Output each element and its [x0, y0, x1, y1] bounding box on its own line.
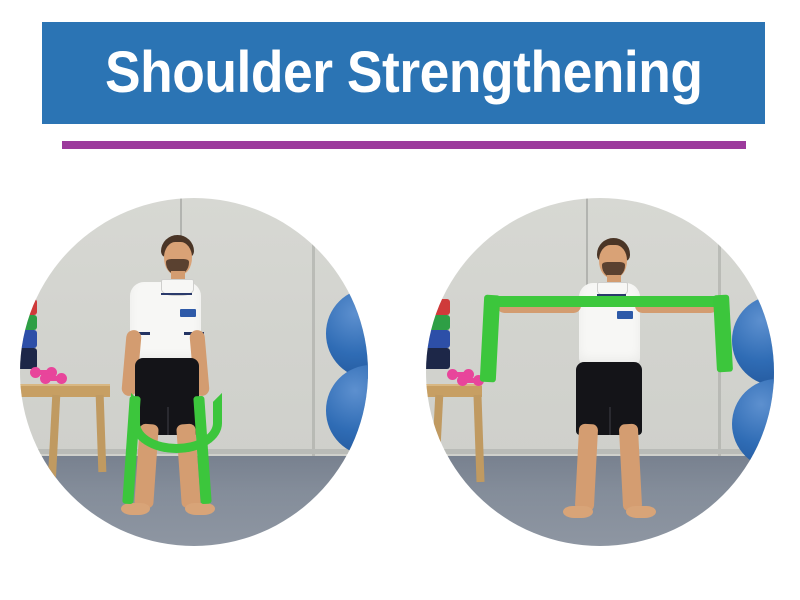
foot-left: [121, 503, 151, 516]
gym-scene-end: [426, 198, 774, 546]
band-horizontal: [492, 296, 722, 306]
foot-right: [626, 506, 656, 519]
band-tail-left: [479, 295, 499, 383]
shirt-logo: [617, 311, 633, 319]
title-banner: Shoulder Strengthening: [42, 22, 765, 124]
collar-stripe: [161, 293, 192, 295]
person-start-position: [20, 198, 368, 546]
leg-left: [575, 424, 598, 512]
foot-right: [185, 503, 215, 516]
exercise-photo-end: [426, 198, 774, 546]
gym-scene-start: [20, 198, 368, 546]
exercise-photo-start: [20, 198, 368, 546]
accent-divider: [62, 141, 746, 149]
band-loop: [131, 393, 222, 453]
foot-left: [563, 506, 593, 519]
shorts-split: [609, 407, 611, 435]
shirt-logo: [180, 309, 196, 317]
leg-right: [619, 424, 642, 512]
person-end-position: [426, 198, 774, 546]
page-title: Shoulder Strengthening: [105, 44, 703, 102]
band-tail-right: [713, 295, 733, 372]
